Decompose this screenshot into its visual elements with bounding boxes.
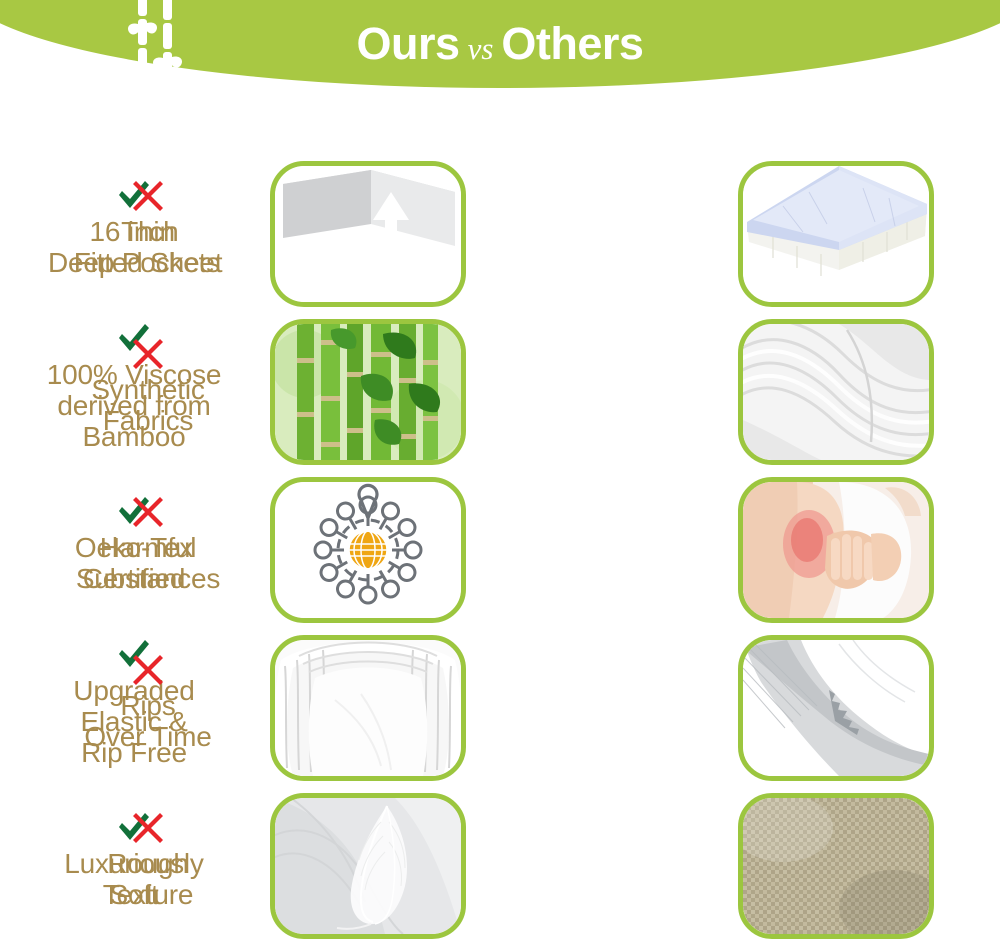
- cross-icon: [132, 496, 164, 530]
- cross-icon: [132, 812, 164, 846]
- others-label-line: Fabrics: [103, 405, 193, 436]
- ours-image-frame: [270, 635, 466, 781]
- coarse-burlap-weave-texture-image: [743, 798, 929, 934]
- others-label-block: Rips Over Time: [22, 624, 274, 782]
- comparison-row: Upgraded Elastic & Rip Free: [0, 624, 1000, 782]
- others-label-line: Substances: [76, 563, 220, 594]
- others-label-line: Fitted Sheet: [74, 247, 223, 278]
- torn-ripped-fabric-image: [743, 640, 929, 776]
- others-label-line: Thin: [121, 216, 175, 247]
- others-cell: Thin Fitted Sheet: [500, 150, 1000, 308]
- comparison-row: 100% Viscose derived from Bamboo: [0, 308, 1000, 466]
- comparison-grid: 16 inch Deep Pockets: [0, 150, 1000, 940]
- others-image-frame: [738, 477, 934, 623]
- comparison-row: Oeko-Tex Certified: [0, 466, 1000, 624]
- ours-image-frame: [270, 793, 466, 939]
- others-label-line: Harmful: [100, 532, 197, 563]
- others-label-block: Synthetic Fabrics: [22, 308, 274, 466]
- others-label-block: Rough Texture: [22, 782, 274, 940]
- comparison-row: 16 inch Deep Pockets: [0, 150, 1000, 308]
- others-label-line: Synthetic: [91, 374, 204, 405]
- others-label-line: Rough: [107, 848, 189, 879]
- others-image-frame: [738, 161, 934, 307]
- cross-icon: [132, 654, 164, 688]
- others-cell: Rips Over Time: [500, 624, 1000, 782]
- others-cell: Harmful Substances: [500, 466, 1000, 624]
- others-label-line: Texture: [103, 879, 193, 910]
- others-cell: Rough Texture: [500, 782, 1000, 940]
- oeko-tex-certification-logo-image: [275, 482, 461, 618]
- ours-image-frame: [270, 477, 466, 623]
- skin-irritation-rash-arm-image: [743, 482, 929, 618]
- cross-icon: [132, 180, 164, 214]
- others-image-frame: [738, 793, 934, 939]
- others-label-block: Harmful Substances: [22, 466, 274, 624]
- others-label-line: Over Time: [84, 721, 211, 752]
- elastic-fitted-sheet-corner-image: [275, 640, 461, 776]
- others-image-frame: [738, 635, 934, 781]
- others-label-line: Rips: [120, 690, 175, 721]
- thin-blue-fitted-sheet-on-mattress-image: [743, 166, 929, 302]
- mattress-corner-deep-pocket-arrow-image: [275, 166, 461, 302]
- others-cell: Synthetic Fabrics: [500, 308, 1000, 466]
- white-feather-on-silk-image: [275, 798, 461, 934]
- cross-icon: [132, 338, 164, 372]
- others-label-block: Thin Fitted Sheet: [22, 150, 274, 308]
- ours-image-frame: [270, 161, 466, 307]
- comparison-row: Luxuriously Soft: [0, 782, 1000, 940]
- others-image-frame: [738, 319, 934, 465]
- ours-image-frame: [270, 319, 466, 465]
- bamboo-stalks-photo-image: [275, 324, 461, 460]
- header-banner: [0, 0, 1000, 88]
- white-synthetic-fabric-folds-image: [743, 324, 929, 460]
